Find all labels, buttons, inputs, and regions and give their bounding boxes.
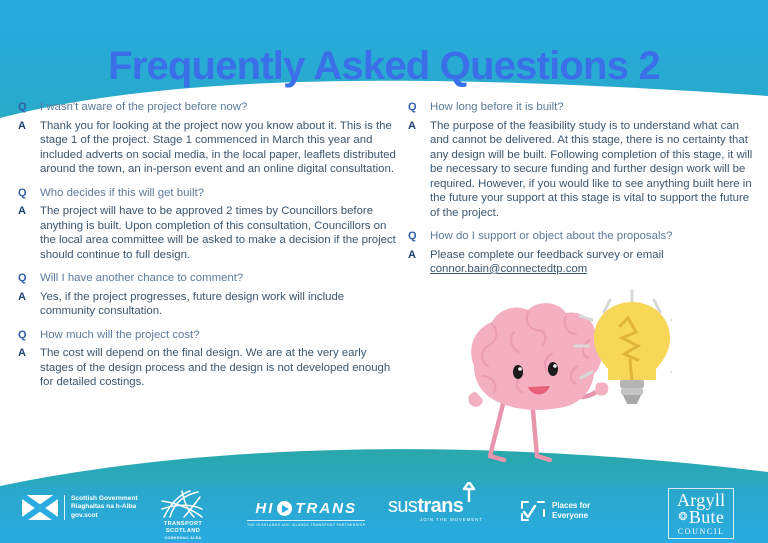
question-text: Who decides if this will get built? [40, 186, 400, 201]
faq-question-row: Q Who decides if this will get built? [18, 186, 400, 201]
brain-body [468, 303, 601, 410]
logo-scottish-government: Scottish Government Riaghaltas na h-Alba… [22, 495, 138, 520]
lightbulb-base-mid [621, 388, 643, 395]
question-marker: Q [18, 271, 40, 286]
pfe-line-1: Places for [552, 501, 590, 511]
answer-text: Yes, if the project progresses, future d… [40, 290, 400, 319]
sustrans-wordmark: sustrans [388, 496, 463, 516]
brain-hand [595, 382, 608, 395]
logo-sustrans: sustrans JOIN THE MOVEMENT [388, 496, 483, 522]
faq-answer-row: A Thank you for looking at the project n… [18, 119, 400, 177]
places-for-everyone-wordmark: Places for Everyone [552, 501, 590, 520]
faq-poster: Frequently Asked Questions 2 Q I wasn't … [0, 0, 768, 543]
faq-answer-row: A Please complete our feedback survey or… [408, 248, 758, 277]
logo-hitrans: HI TRANS THE HIGHLANDS AND ISLANDS TRANS… [247, 500, 365, 527]
places-for-everyone-mark-icon [520, 500, 546, 522]
question-text: How long before it is built? [430, 100, 758, 115]
question-text: Will I have another chance to comment? [40, 271, 400, 286]
faq-question-row: Q Will I have another chance to comment? [18, 271, 400, 286]
argyll-line-2: Bute [689, 509, 724, 526]
faq-question-row: Q How do I support or object about the p… [408, 229, 758, 244]
lightbulb-base-bottom [623, 395, 641, 404]
question-text: How much will the project cost? [40, 328, 400, 343]
brain-lightbulb-illustration [432, 288, 672, 473]
transport-scotland-mark-icon [160, 489, 206, 519]
question-marker: Q [18, 186, 40, 201]
hitrans-play-icon [277, 501, 292, 516]
sustrans-tagline: JOIN THE MOVEMENT [420, 517, 483, 522]
hitrans-left-text: HI [255, 500, 274, 517]
ts-line-3: COMHDHAIL ALBA [164, 535, 202, 542]
faq-column-right: Q How long before it is built? A The pur… [408, 100, 758, 281]
question-marker: Q [18, 100, 40, 115]
answer-text-body: Please complete our feedback survey or e… [430, 249, 664, 261]
contact-email-link[interactable]: connor.bain@connectedtp.com [430, 263, 587, 275]
hitrans-wordmark: HI TRANS [255, 500, 357, 517]
faq-column-left: Q I wasn't aware of the project before n… [18, 100, 400, 394]
answer-marker: A [408, 119, 430, 134]
faq-answer-row: A Yes, if the project progresses, future… [18, 290, 400, 319]
scotgov-line-2: Riaghaltas na h-Alba [71, 503, 138, 511]
argyll-line-3: COUNCIL [678, 527, 725, 536]
answer-marker: A [18, 119, 40, 134]
scotgov-line-3: gov.scot [71, 512, 138, 520]
brain-feet [490, 456, 550, 460]
sustrans-part-2: trans [417, 495, 463, 517]
saltire-flag-icon [22, 495, 58, 520]
thistle-icon: ❂ [678, 509, 688, 526]
answer-marker: A [408, 248, 430, 263]
answer-marker: A [18, 204, 40, 219]
lightbulb-base-top [620, 380, 644, 388]
faq-question-row: Q How much will the project cost? [18, 328, 400, 343]
answer-text: The project will have to be approved 2 t… [40, 204, 400, 262]
faq-answer-row: A The cost will depend on the final desi… [18, 346, 400, 390]
faq-question-row: Q How long before it is built? [408, 100, 758, 115]
sustrans-arrow-icon [461, 482, 477, 502]
brain-right-eye-glint [553, 364, 557, 368]
page-title: Frequently Asked Questions 2 [0, 44, 768, 88]
answer-text: Thank you for looking at the project now… [40, 119, 400, 177]
footer-logo-bar: Scottish Government Riaghaltas na h-Alba… [0, 488, 768, 543]
logo-places-for-everyone: Places for Everyone [520, 500, 590, 522]
question-text: How do I support or object about the pro… [430, 229, 758, 244]
answer-marker: A [18, 346, 40, 361]
faq-question-row: Q I wasn't aware of the project before n… [18, 100, 400, 115]
answer-marker: A [18, 290, 40, 305]
answer-text: Please complete our feedback survey or e… [430, 248, 758, 277]
brain-left-eye [513, 365, 523, 379]
logo-transport-scotland: TRANSPORT SCOTLAND COMHDHAIL ALBA [160, 489, 206, 542]
question-marker: Q [408, 100, 430, 115]
faq-answer-row: A The project will have to be approved 2… [18, 204, 400, 262]
hitrans-right-text: TRANS [295, 500, 357, 517]
hitrans-tagline: THE HIGHLANDS AND ISLANDS TRANSPORT PART… [247, 520, 365, 527]
logo-argyll-and-bute-council: Argyll ❂ Bute COUNCIL [668, 488, 734, 539]
transport-scotland-wordmark: TRANSPORT SCOTLAND COMHDHAIL ALBA [164, 521, 202, 542]
pfe-line-2: Everyone [552, 511, 590, 521]
ts-line-2: SCOTLAND [164, 528, 202, 535]
scottish-government-wordmark: Scottish Government Riaghaltas na h-Alba… [64, 495, 138, 520]
scotgov-line-1: Scottish Government [71, 495, 138, 503]
ts-line-1: TRANSPORT [164, 521, 202, 528]
question-marker: Q [408, 229, 430, 244]
faq-answer-row: A The purpose of the feasibility study i… [408, 119, 758, 221]
brain-right-eye [548, 362, 558, 376]
brain-left-eye-glint [518, 367, 522, 371]
question-text: I wasn't aware of the project before now… [40, 100, 400, 115]
sustrans-part-1: sus [388, 495, 417, 517]
answer-text: The purpose of the feasibility study is … [430, 119, 758, 221]
answer-text: The cost will depend on the final design… [40, 346, 400, 390]
question-marker: Q [18, 328, 40, 343]
argyll-line-2-row: ❂ Bute [678, 509, 724, 526]
